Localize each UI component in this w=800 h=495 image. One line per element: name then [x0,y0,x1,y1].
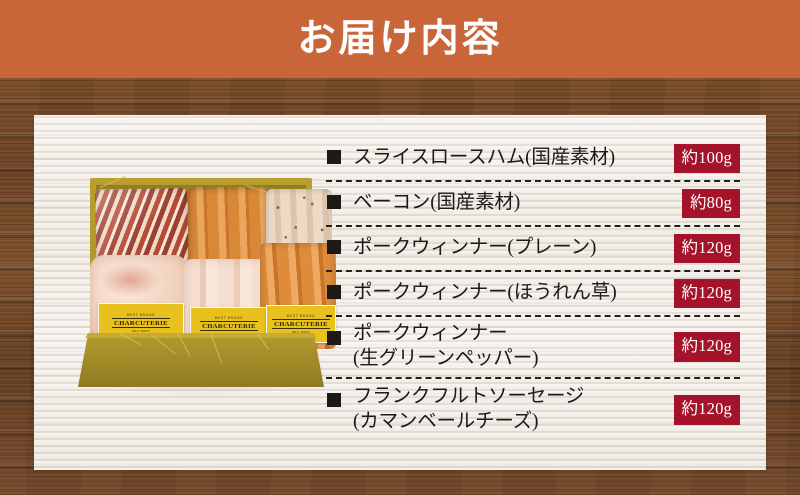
header-band: お届け内容 [0,0,800,78]
ham-marbling [100,263,160,297]
item-name: ポークウィンナー(プレーン) [353,236,674,261]
square-bullet-icon [327,195,341,209]
product-photo: BEST BRAND CHARCUTERIE DELI MEAT BEST BR… [60,163,342,423]
list-item: ベーコン(国産素材) 約80g [326,182,740,227]
list-item: ポークウィンナー(プレーン) 約120g [326,227,740,272]
content-panel: BEST BRAND CHARCUTERIE DELI MEAT BEST BR… [34,115,766,470]
quantity-badge: 約80g [682,189,740,219]
charcuterie-label-main: CHARCUTERIE [112,318,170,328]
list-item: ポークウィンナー (生グリーンペッパー) 約120g [326,317,740,379]
charcuterie-label-top: BEST BRAND [287,314,316,318]
charcuterie-label-main: CHARCUTERIE [200,321,258,331]
charcuterie-label-main: CHARCUTERIE [272,319,330,329]
square-bullet-icon [327,240,341,254]
quantity-badge: 約100g [674,144,741,174]
quantity-badge: 約120g [674,332,741,362]
gift-box-front-rim [78,333,324,338]
list-item: ポークウィンナー(ほうれん草) 約120g [326,272,740,317]
item-name: ポークウィンナー (生グリーンペッパー) [353,322,674,372]
pork-wiener-plain-pack [188,187,268,269]
charcuterie-label-bottom: DELI MEAT [132,329,150,333]
charcuterie-label-top: BEST BRAND [215,316,244,320]
charcuterie-label-top: BEST BRAND [127,313,156,317]
quantity-badge: 約120g [674,234,741,264]
square-bullet-icon [327,393,341,407]
page-title: お届け内容 [0,0,800,78]
item-name: ベーコン(国産素材) [353,191,682,216]
quantity-badge: 約120g [674,279,741,309]
gift-box-front [78,335,324,387]
product-contents-banner: お届け内容 BEST BRAND CHARCUTERIE DELI MEAT [0,0,800,495]
item-name: スライスロースハム(国産素材) [353,146,674,171]
contents-item-list: スライスロースハム(国産素材) 約100g ベーコン(国産素材) 約80g ポー… [326,137,740,441]
item-name: ポークウィンナー(ほうれん草) [353,281,674,306]
item-name: フランクフルトソーセージ (カマンベールチーズ) [353,385,674,435]
square-bullet-icon [327,285,341,299]
list-item: スライスロースハム(国産素材) 約100g [326,137,740,182]
herb-speck-texture [266,189,332,251]
square-bullet-icon [327,150,341,164]
quantity-badge: 約120g [674,395,741,425]
square-bullet-icon [327,331,341,345]
list-item: フランクフルトソーセージ (カマンベールチーズ) 約120g [326,379,740,441]
